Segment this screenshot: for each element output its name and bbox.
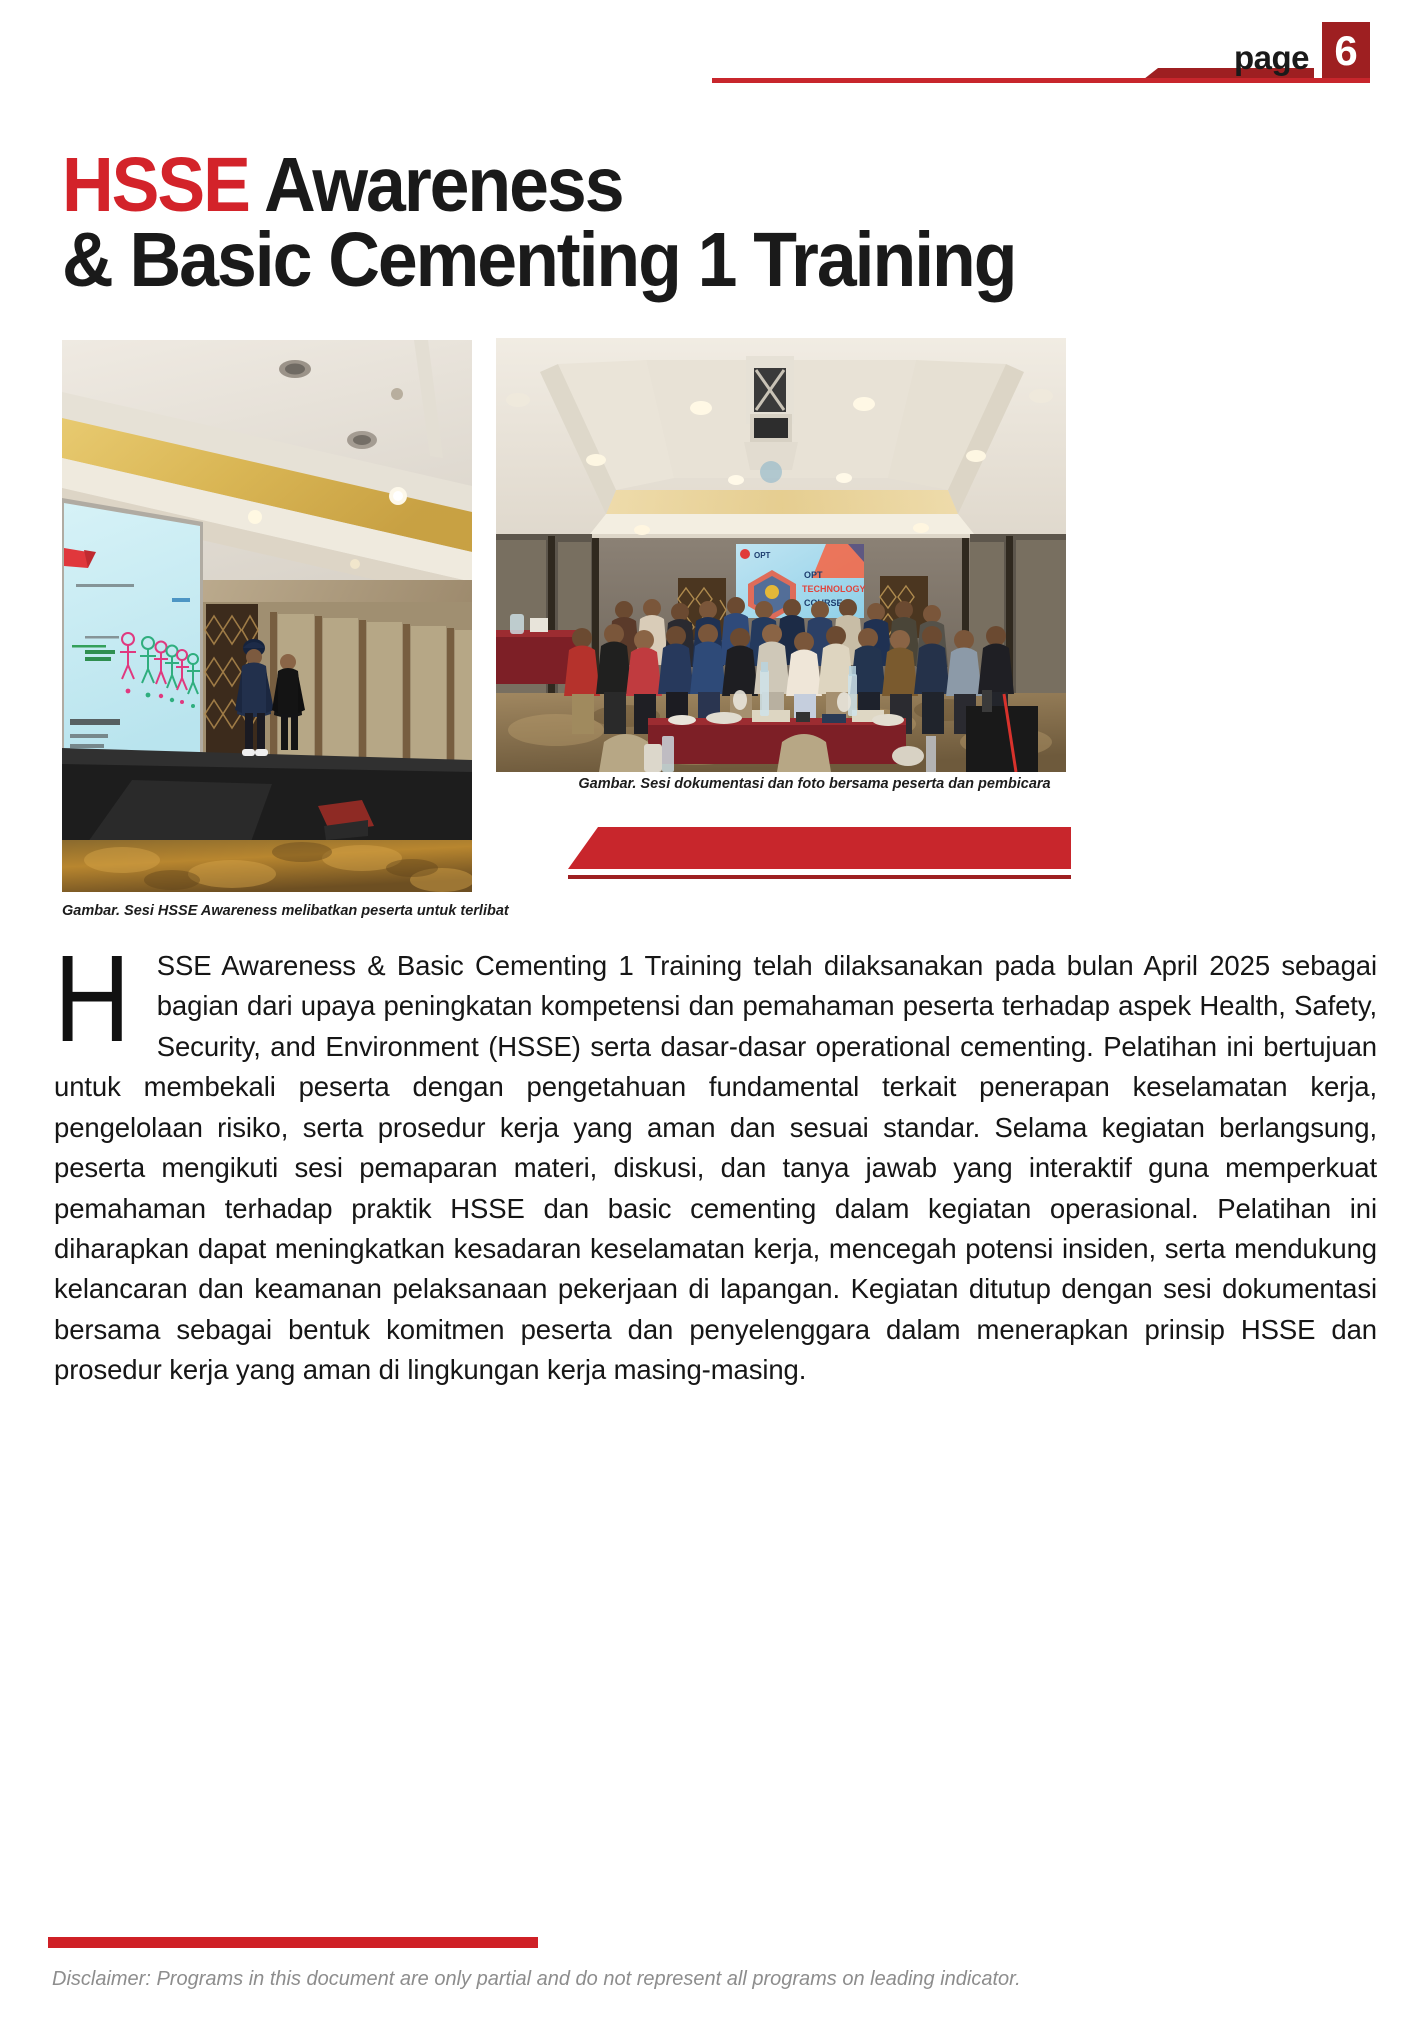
page-title: HSSE Awareness & Basic Cementing 1 Train…	[62, 148, 1382, 299]
title-line-1: HSSE Awareness	[62, 148, 1290, 223]
red-banner-underline	[568, 875, 1071, 879]
page-word-label: page	[1234, 41, 1322, 80]
svg-text:TECHNOLOGY: TECHNOLOGY	[802, 584, 866, 594]
caption-awareness-photo: Gambar. Sesi HSSE Awareness melibatkan p…	[62, 903, 509, 919]
photo-right-artwork: OPT OPT TECHNOLOGY COURSE	[496, 338, 1066, 772]
caption-group-photo: Gambar. Sesi dokumentasi dan foto bersam…	[563, 776, 1066, 792]
title-line-1-rest: Awareness	[249, 142, 623, 228]
article-text: SSE Awareness & Basic Cementing 1 Traini…	[54, 950, 1377, 1385]
footer-red-rule	[48, 1937, 538, 1948]
article-body: HSSE Awareness & Basic Cementing 1 Train…	[54, 946, 1377, 1391]
article-dropcap: H	[54, 950, 130, 1051]
page-indicator: page 6	[1234, 22, 1370, 80]
photo-left-artwork	[62, 340, 472, 892]
photo-group-documentation: OPT OPT TECHNOLOGY COURSE	[496, 338, 1066, 772]
red-angled-banner	[568, 827, 1071, 869]
svg-text:OPT: OPT	[754, 551, 771, 560]
svg-text:OPT: OPT	[804, 570, 823, 580]
page-header: page 6	[0, 0, 1428, 105]
header-red-rule	[712, 78, 1370, 83]
title-accent-word: HSSE	[62, 142, 249, 228]
page-number-badge: 6	[1322, 22, 1370, 80]
disclaimer-text: Disclaimer: Programs in this document ar…	[52, 1968, 1021, 1991]
title-line-2: & Basic Cementing 1 Training	[62, 223, 1290, 298]
photo-hsse-awareness-session	[62, 340, 472, 892]
